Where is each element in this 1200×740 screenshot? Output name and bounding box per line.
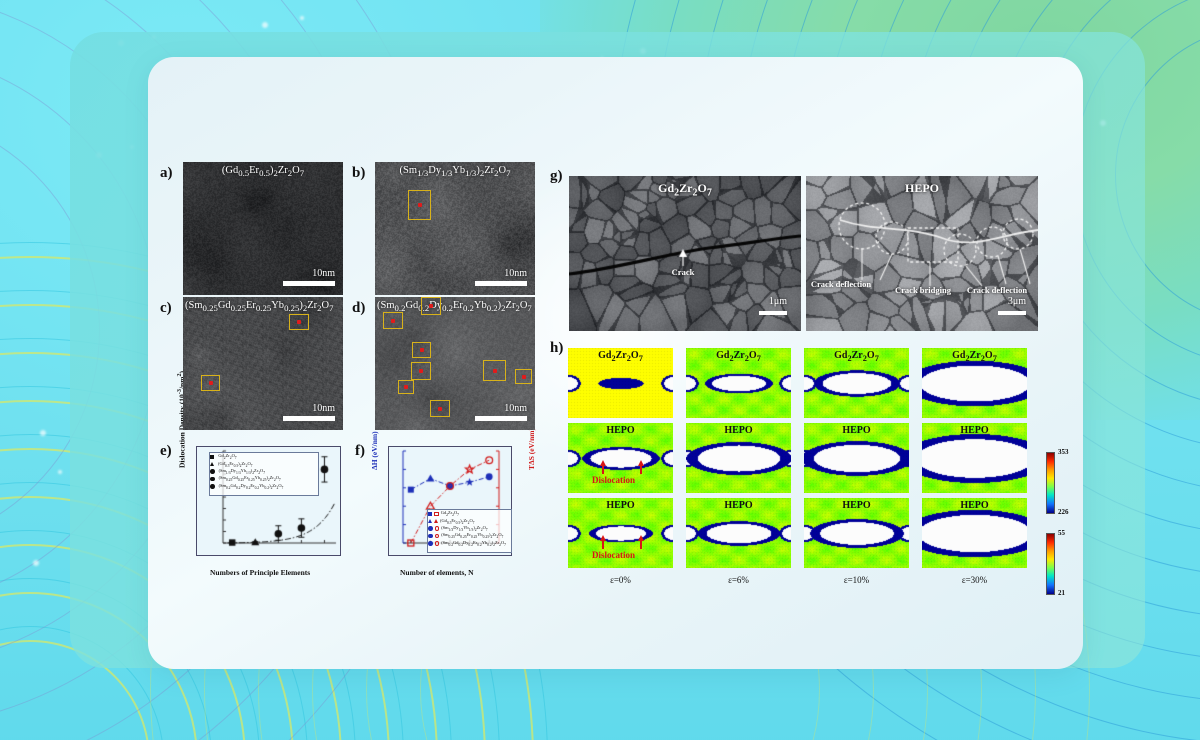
chart-f-legend: Gd2Zr2O7(Gd0.5Er0.5)2Zr2O7(Sm1/3Dy1/3Yb1… [427,509,512,553]
sem-right-title: HEPO [806,181,1038,196]
md-colorbar-max: 55 [1058,529,1065,537]
panel-label-b: b) [352,165,365,182]
legend-marker-pentagon [428,541,439,546]
md-strain-label: ε=0% [568,575,673,585]
roi-box [421,297,441,315]
md-colorbar-min: 226 [1058,508,1069,516]
md-strain-label: ε=6% [686,575,791,585]
md-snapshot-title: HEPO [922,425,1027,436]
panel-label-e: e) [160,443,172,460]
scalebar-d [475,416,527,421]
roi-box [515,369,532,384]
scalebar-a [283,281,335,286]
md-dislocation-label: Dislocation [592,475,635,485]
sem-left-scalebar-label: 1μm [769,296,787,307]
legend-item: (Sm1/3Dy1/3Yb1/3)2Zr2O7 [428,525,511,532]
md-snapshot: HEPODislocation [568,498,673,568]
legend-marker-blue [428,541,433,546]
sem-panel-hepo: HEPO Crack deflection Crack bridging Cra… [806,176,1038,331]
hrtem-caption-a: (Gd0.5Er0.5)2Zr2O7 [183,165,343,178]
sem-annotation-crack-deflection-2: Crack deflection [956,286,1038,295]
sem-right-scalebar [998,311,1026,315]
legend-marker-pentagon [210,484,215,489]
legend-label: (Sm0.2Gd0.2Dy0.2Er0.2Yb0.2)2Zr2O7 [441,540,506,547]
scalebar-label-b: 10nm [504,268,527,279]
chart-f-xlabel: Number of elements, N [400,568,474,577]
legend-item: (Gd0.5Er0.5)2Zr2O7 [210,460,318,467]
hrtem-caption-c: (Sm0.25Gd0.25Er0.25Yb0.25)2Zr2O7 [183,300,343,313]
legend-marker-red [435,534,440,539]
legend-label: Gd2Zr2O7 [441,510,459,517]
dislocation-arrow-icon [600,460,606,466]
md-snapshot-title: Gd2Zr2O7 [922,350,1027,363]
roi-box [483,360,506,381]
dislocation-arrow-icon [638,460,644,466]
legend-marker-blue [428,534,433,539]
legend-item: (Sm0.25Gd0.25Er0.25Yb0.25)2Zr2O7 [210,475,318,482]
md-snapshot: HEPO [686,498,791,568]
scalebar-c [283,416,335,421]
legend-item: Gd2Zr2O7 [210,453,318,460]
sem-left-title: Gd2Zr2O7 [569,181,801,198]
scalebar-label-d: 10nm [504,403,527,414]
sem-annotation-crack: Crack [653,268,713,277]
hrtem-panel-d: (Sm0.2Gd0.2Dy0.2Er0.2Yb0.2)2Zr2O7 10nm [375,297,535,430]
md-strain-label: ε=30% [922,575,1027,585]
legend-marker-square [210,455,214,459]
md-colorbar-max: 353 [1058,448,1069,456]
hrtem-panel-a: (Gd0.5Er0.5)2Zr2O7 10nm [183,162,343,295]
sem-right-scalebar-label: 3μm [1008,296,1026,307]
legend-item: (Sm1/3Dy1/3Yb1/3)2Zr2O7 [210,468,318,475]
legend-label: Gd2Zr2O7 [218,453,236,460]
legend-label: (Gd0.5Er0.5)2Zr2O7 [440,518,474,525]
legend-marker-red [434,519,438,523]
hrtem-panel-b: (Sm1/3Dy1/3Yb1/3)2Zr2O7 10nm [375,162,535,295]
md-snapshot: HEPODislocation [568,423,673,493]
legend-label: (Sm0.25Gd0.25Er0.25Yb0.25)2Zr2O7 [219,475,281,482]
panel-label-d: d) [352,300,365,317]
md-snapshot: HEPO [922,423,1027,493]
md-colorbar-min: 21 [1058,589,1065,597]
md-snapshot: Gd2Zr2O7 [686,348,791,418]
hrtem-panel-c: (Sm0.25Gd0.25Er0.25Yb0.25)2Zr2O7 10nm [183,297,343,430]
roi-box [408,190,431,220]
roi-box [430,400,450,417]
md-snapshot-title: HEPO [686,500,791,511]
legend-item: (Sm0.2Gd0.2Dy0.2Er0.2Yb0.2)2Zr2O7 [428,540,511,547]
dislocation-arrow-icon [600,535,606,541]
md-snapshot-title: Gd2Zr2O7 [804,350,909,363]
md-snapshot-title: Gd2Zr2O7 [686,350,791,363]
md-snapshot-title: HEPO [804,500,909,511]
md-snapshot: Gd2Zr2O7 [804,348,909,418]
md-snapshot: HEPO [686,423,791,493]
scalebar-b [475,281,527,286]
chart-f-ylabel-left: ΔH (eV/nm) [370,431,379,470]
roi-box [411,362,431,380]
legend-label: (Sm0.2Gd0.2Dy0.2Er0.2Yb0.2)2Zr2O7 [219,483,284,490]
panel-label-f: f) [355,443,365,460]
scalebar-label-a: 10nm [312,268,335,279]
legend-marker-star [428,534,439,539]
roi-box [201,375,220,391]
roi-box [412,342,431,358]
chart-f-ylabel-right: TΔS (eV/nm) [527,428,536,470]
md-snapshot: HEPO [804,423,909,493]
sem-annotation-crack-deflection-1: Crack deflection [808,280,874,289]
md-snapshot: Gd2Zr2O7 [922,348,1027,418]
legend-item: Gd2Zr2O7 [428,510,511,517]
legend-marker-star [210,477,215,482]
md-snapshot-title: HEPO [568,500,673,511]
md-snapshot-title: HEPO [686,425,791,436]
md-snapshot-title: HEPO [568,425,673,436]
md-colorbar [1046,452,1055,514]
md-snapshot: HEPO [922,498,1027,568]
scalebar-label-c: 10nm [312,403,335,414]
panel-label-c: c) [160,300,172,317]
legend-marker-triangle [428,519,438,523]
legend-label: (Sm0.25Gd0.25Er0.25Yb0.25)2Zr2O7 [441,532,503,539]
legend-marker-square [428,512,439,516]
md-snapshot: HEPO [804,498,909,568]
legend-item: (Gd0.5Er0.5)2Zr2O7 [428,517,511,524]
legend-marker-red [435,526,440,531]
legend-marker-triangle [210,462,214,466]
dislocation-arrow-stem [640,465,642,474]
legend-marker-blue [428,519,432,523]
legend-item: (Sm0.2Gd0.2Dy0.2Er0.2Yb0.2)2Zr2O7 [210,483,318,490]
legend-marker-red [435,541,440,546]
legend-label: (Sm1/3Dy1/3Yb1/3)2Zr2O7 [441,525,487,532]
sem-annotation-crack-bridging: Crack bridging [880,286,966,295]
sem-left-scalebar [759,311,787,315]
legend-marker-circle [210,469,215,474]
chart-panel-f: Gd2Zr2O7(Gd0.5Er0.5)2Zr2O7(Sm1/3Dy1/3Yb1… [388,446,512,556]
md-dislocation-label: Dislocation [592,550,635,560]
legend-label: (Gd0.5Er0.5)2Zr2O7 [218,461,252,468]
roi-box [289,314,309,330]
dislocation-arrow-stem [640,540,642,549]
dislocation-arrow-stem [602,540,604,549]
roi-box [383,312,403,329]
legend-marker-blue [428,526,433,531]
chart-e-legend: Gd2Zr2O7(Gd0.5Er0.5)2Zr2O7(Sm1/3Dy1/3Yb1… [209,452,319,496]
legend-marker-red [434,512,438,516]
dislocation-arrow-icon [638,535,644,541]
panel-label-h: h) [550,340,563,357]
md-snapshot: Gd2Zr2O7 [568,348,673,418]
panel-label-g: g) [550,168,563,185]
chart-panel-e: Gd2Zr2O7(Gd0.5Er0.5)2Zr2O7(Sm1/3Dy1/3Yb1… [196,446,341,556]
legend-label: (Sm1/3Dy1/3Yb1/3)2Zr2O7 [219,468,265,475]
sem-panel-gd2zr2o7: Gd2Zr2O7 Crack 1μm [569,176,801,331]
chart-e-xlabel: Numbers of Principle Elements [210,568,310,577]
md-colorbar [1046,533,1055,595]
scientific-figure: a) b) c) d) e) f) g) h) (Gd0.5Er0.5)2Zr2… [0,0,1200,740]
md-snapshot-title: HEPO [804,425,909,436]
md-snapshot-title: Gd2Zr2O7 [568,350,673,363]
panel-label-a: a) [160,165,173,182]
md-snapshot-title: HEPO [922,500,1027,511]
md-strain-label: ε=10% [804,575,909,585]
legend-item: (Sm0.25Gd0.25Er0.25Yb0.25)2Zr2O7 [428,532,511,539]
roi-box [398,380,414,394]
sem-image-right [806,176,1038,331]
legend-marker-blue [428,512,432,516]
sem-image-left [569,176,801,331]
dislocation-arrow-stem [602,465,604,474]
hrtem-caption-b: (Sm1/3Dy1/3Yb1/3)2Zr2O7 [375,165,535,178]
legend-marker-circle [428,526,439,531]
